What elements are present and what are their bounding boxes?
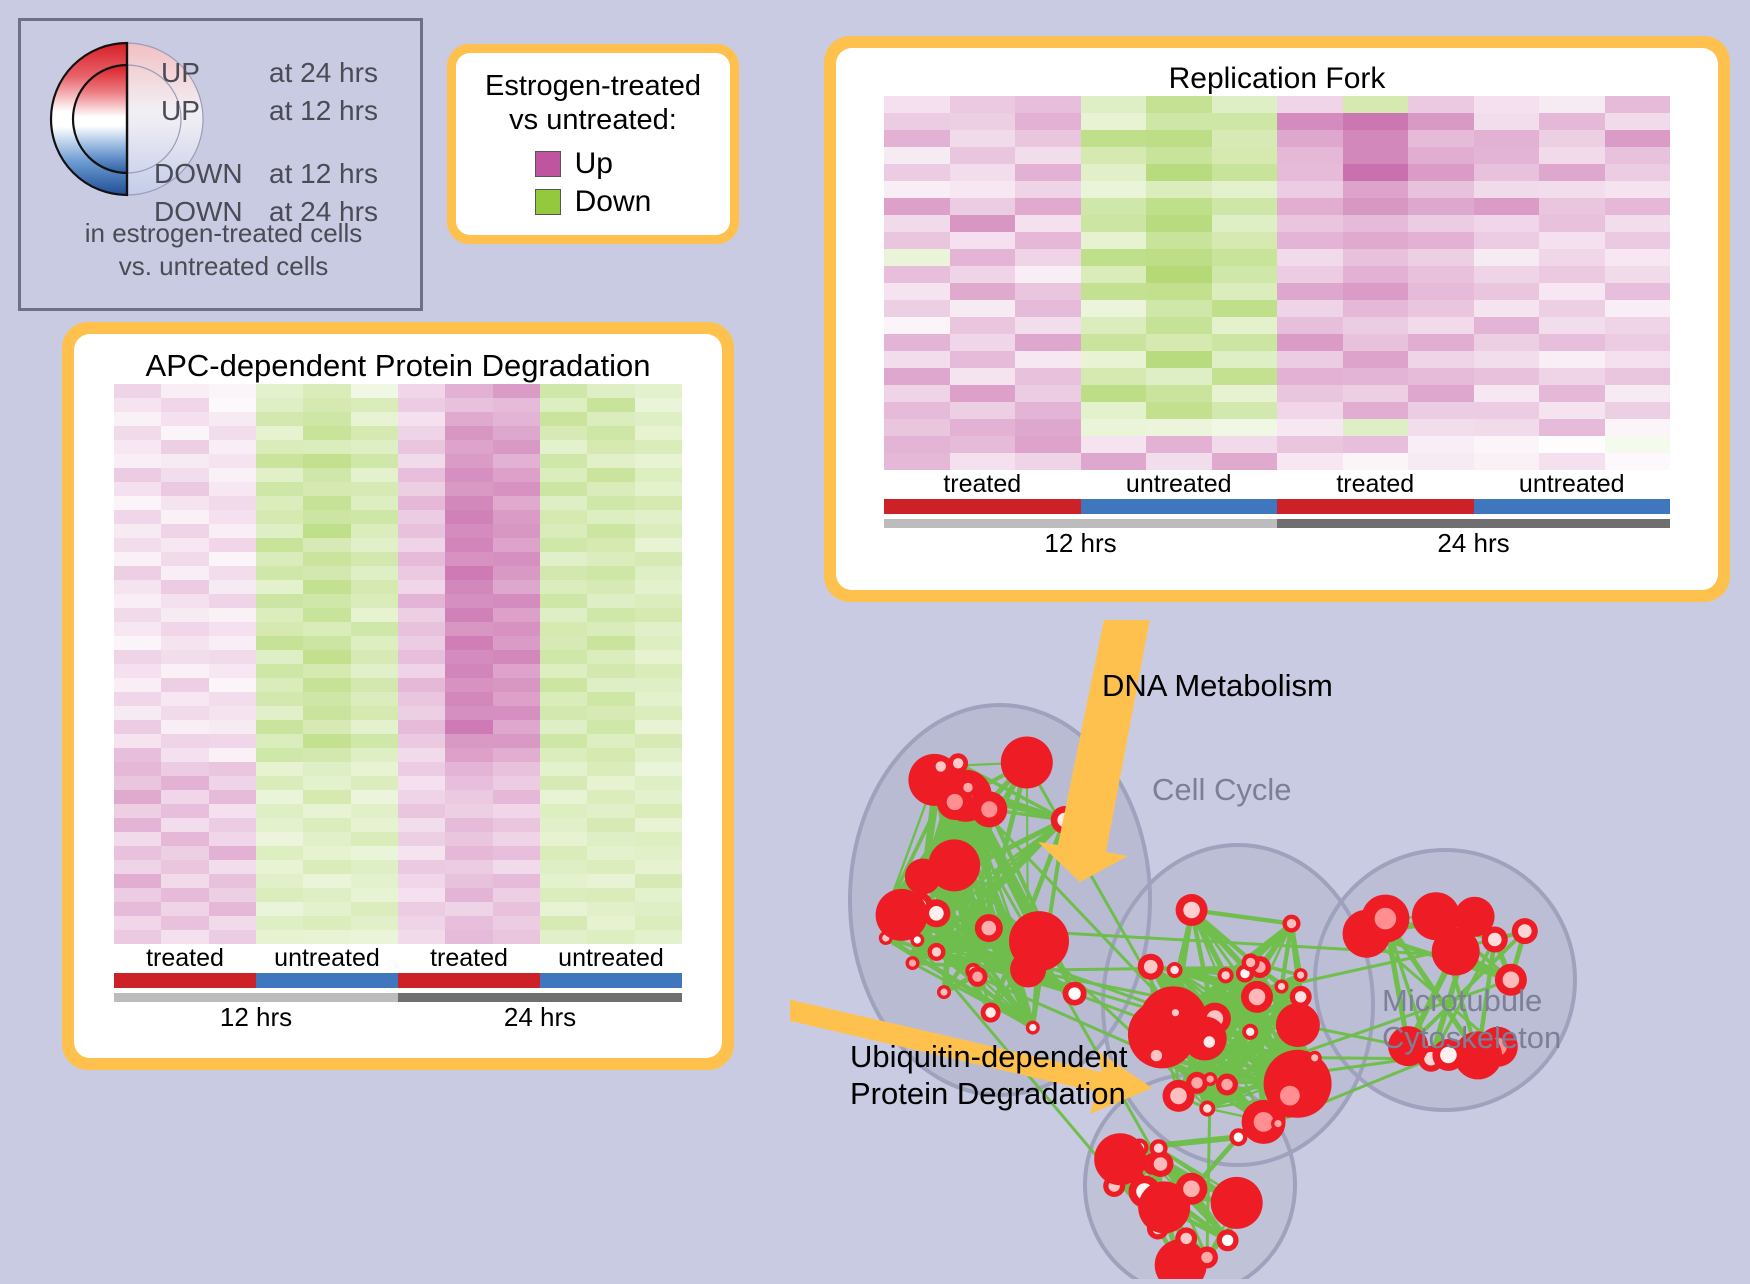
network-node[interactable] bbox=[1175, 1227, 1197, 1249]
network-node[interactable] bbox=[1211, 1177, 1263, 1229]
heatmap-cell bbox=[1146, 113, 1212, 130]
heatmap-cell bbox=[1408, 266, 1474, 283]
heatmap-cell bbox=[540, 888, 587, 902]
network-node[interactable] bbox=[1196, 1246, 1218, 1268]
network-node[interactable] bbox=[1217, 1229, 1239, 1251]
network-node[interactable] bbox=[1063, 982, 1087, 1006]
heatmap-cell bbox=[1474, 436, 1540, 453]
heatmap-cell bbox=[1539, 402, 1605, 419]
heatmap-cell bbox=[540, 692, 587, 706]
heatmap-cell bbox=[398, 454, 445, 468]
heatmap-cell bbox=[209, 384, 256, 398]
heatmap-cell bbox=[209, 888, 256, 902]
heatmap-cell bbox=[635, 706, 682, 720]
axis-group-name-0: treated bbox=[114, 944, 256, 973]
heatmap-cell bbox=[1474, 283, 1540, 300]
network-node[interactable] bbox=[1294, 968, 1308, 982]
heatmap-cell bbox=[303, 720, 350, 734]
heatmap-cell bbox=[635, 594, 682, 608]
heatmap-cell bbox=[1277, 317, 1343, 334]
heatmap-cell bbox=[1277, 249, 1343, 266]
heatmap-cell bbox=[1081, 198, 1147, 215]
network-node[interactable] bbox=[1216, 1074, 1238, 1096]
network-node[interactable] bbox=[1276, 1003, 1320, 1047]
heatmap-cell bbox=[950, 402, 1016, 419]
heatmap-cell bbox=[1408, 419, 1474, 436]
heatmap-cell bbox=[1474, 198, 1540, 215]
heatmap-cell bbox=[161, 776, 208, 790]
heatmap-cell bbox=[209, 678, 256, 692]
heatmap-cell bbox=[950, 453, 1016, 470]
axis-treatment-bar-rep bbox=[884, 499, 1670, 514]
heatmap-cell bbox=[1539, 198, 1605, 215]
axis-group-names-apc: treateduntreatedtreateduntreated bbox=[114, 944, 682, 973]
heatmap-cell bbox=[256, 734, 303, 748]
heatmap-cell bbox=[114, 664, 161, 678]
heatmap-cell bbox=[256, 650, 303, 664]
panel-title-replication-fork: Replication Fork bbox=[884, 62, 1670, 96]
heatmap-cell bbox=[587, 524, 634, 538]
heatmap-cell bbox=[256, 468, 303, 482]
heatmap-cell bbox=[540, 636, 587, 650]
heatmap-cell bbox=[1343, 334, 1409, 351]
heatmap-cell bbox=[1146, 385, 1212, 402]
network-node[interactable] bbox=[948, 753, 968, 773]
heatmap-cell bbox=[540, 678, 587, 692]
heatmap-cell bbox=[1343, 368, 1409, 385]
heatmap-cell bbox=[303, 860, 350, 874]
heatmap-cell bbox=[1539, 266, 1605, 283]
heatmap-cell bbox=[351, 384, 398, 398]
heatmap-cell bbox=[493, 664, 540, 678]
heatmap-cell bbox=[445, 790, 492, 804]
network-node[interactable] bbox=[1163, 1080, 1195, 1112]
heatmap-cell bbox=[114, 454, 161, 468]
heatmap-cell bbox=[635, 832, 682, 846]
heatmap-cell bbox=[303, 790, 350, 804]
network-node[interactable] bbox=[1009, 911, 1069, 971]
network-node[interactable] bbox=[975, 914, 1003, 942]
cluster-label-cell-cycle: Cell Cycle bbox=[1152, 772, 1292, 808]
heatmap-cell bbox=[1408, 402, 1474, 419]
heatmap-cell bbox=[209, 804, 256, 818]
heatmap-cell bbox=[351, 790, 398, 804]
network-node[interactable] bbox=[1432, 928, 1480, 976]
estrogen-legend-title-line2: vs untreated: bbox=[485, 103, 701, 137]
heatmap-cell bbox=[351, 832, 398, 846]
network-node[interactable] bbox=[1241, 981, 1273, 1013]
network-node[interactable] bbox=[981, 1003, 1001, 1023]
heatmap-cell bbox=[445, 454, 492, 468]
heatmap-cell bbox=[635, 482, 682, 496]
heatmap-cell bbox=[256, 916, 303, 930]
heatmap-cell bbox=[1539, 181, 1605, 198]
heatmap-cell bbox=[493, 454, 540, 468]
heatmap-cell bbox=[635, 440, 682, 454]
heatmap-cell bbox=[1343, 402, 1409, 419]
heatmap-cell bbox=[1146, 249, 1212, 266]
heatmap-cell bbox=[398, 846, 445, 860]
heatmap-cell bbox=[1081, 113, 1147, 130]
heatmap-cell bbox=[351, 902, 398, 916]
network-node[interactable] bbox=[1229, 1128, 1247, 1146]
heatmap-cell bbox=[884, 402, 950, 419]
heatmap-cell bbox=[1212, 130, 1278, 147]
treatment-bar-treated-2 bbox=[1277, 499, 1474, 514]
heatmap-cell bbox=[303, 468, 350, 482]
network-node[interactable] bbox=[1168, 1006, 1182, 1020]
network-node[interactable] bbox=[876, 889, 928, 941]
network-node[interactable] bbox=[1242, 1024, 1258, 1040]
network-node[interactable] bbox=[959, 779, 977, 797]
heatmap-cell bbox=[303, 888, 350, 902]
heatmap-cell bbox=[161, 412, 208, 426]
network-node[interactable] bbox=[1268, 1074, 1312, 1118]
heatmap-cell bbox=[1605, 385, 1671, 402]
panel-apc-degradation: APC-dependent Protein Degradation treate… bbox=[62, 322, 734, 1070]
heatmap-cell bbox=[540, 790, 587, 804]
heatmap-cell bbox=[1277, 215, 1343, 232]
heatmap-cell bbox=[351, 398, 398, 412]
network-node[interactable] bbox=[937, 985, 951, 999]
heatmap-cell bbox=[635, 622, 682, 636]
heatmap-cell bbox=[256, 678, 303, 692]
network-node[interactable] bbox=[1203, 1072, 1217, 1086]
heatmap-cell bbox=[950, 249, 1016, 266]
heatmap-cell bbox=[635, 398, 682, 412]
heatmap-cell bbox=[398, 608, 445, 622]
heatmap-cell bbox=[1277, 198, 1343, 215]
heatmap-cell bbox=[303, 482, 350, 496]
heatmap-cell bbox=[256, 552, 303, 566]
heatmap-cell bbox=[445, 594, 492, 608]
heatmap-cell bbox=[635, 720, 682, 734]
heatmap-cell bbox=[1212, 453, 1278, 470]
heatmap-cell bbox=[398, 566, 445, 580]
heatmap-cell bbox=[114, 580, 161, 594]
heatmap-cell bbox=[161, 538, 208, 552]
heatmap-cell bbox=[209, 580, 256, 594]
network-node[interactable] bbox=[1026, 1021, 1040, 1035]
heatmap-cell bbox=[209, 818, 256, 832]
heatmap-cell bbox=[209, 692, 256, 706]
heatmap-cell bbox=[1146, 351, 1212, 368]
treatment-bar-treated-2 bbox=[398, 973, 540, 988]
heatmap-cell bbox=[1343, 164, 1409, 181]
heatmap-cell bbox=[303, 818, 350, 832]
heatmap-cell bbox=[256, 832, 303, 846]
legend-label-down: Down bbox=[575, 185, 652, 219]
heatmap-cell bbox=[1146, 232, 1212, 249]
up-swatch-icon bbox=[535, 151, 561, 177]
heatmap-cell bbox=[1081, 300, 1147, 317]
heatmap-cell bbox=[351, 482, 398, 496]
heatmap-cell bbox=[540, 846, 587, 860]
heatmap-cell bbox=[445, 930, 492, 944]
heatmap-cell bbox=[303, 398, 350, 412]
heatmap-cell bbox=[209, 538, 256, 552]
heatmap-cell bbox=[1146, 436, 1212, 453]
heatmap-cell bbox=[445, 538, 492, 552]
heatmap-cell bbox=[1343, 113, 1409, 130]
heatmap-cell bbox=[950, 232, 1016, 249]
panel-replication-fork: Replication Fork treateduntreatedtreated… bbox=[824, 36, 1730, 602]
heatmap-cell bbox=[1474, 419, 1540, 436]
heatmap-cell bbox=[1408, 130, 1474, 147]
network-node[interactable] bbox=[1175, 1173, 1207, 1205]
key-term-down-12: DOWN bbox=[154, 158, 243, 190]
heatmap-cell bbox=[635, 888, 682, 902]
heatmap-cell bbox=[161, 818, 208, 832]
heatmap-cell bbox=[884, 419, 950, 436]
axis-treatment-bar-apc bbox=[114, 973, 682, 988]
heatmap-cell bbox=[540, 664, 587, 678]
heatmap-cell bbox=[351, 622, 398, 636]
network-node[interactable] bbox=[1138, 954, 1164, 980]
heatmap-cell bbox=[161, 902, 208, 916]
network-node[interactable] bbox=[968, 967, 988, 987]
heatmap-cell bbox=[1212, 215, 1278, 232]
heatmap-cell bbox=[209, 706, 256, 720]
heatmap-cell bbox=[114, 398, 161, 412]
heatmap-cell bbox=[398, 664, 445, 678]
heatmap-cell bbox=[587, 874, 634, 888]
heatmap-cell bbox=[587, 608, 634, 622]
heatmap-cell bbox=[493, 650, 540, 664]
heatmap-cell bbox=[950, 317, 1016, 334]
heatmap-cell bbox=[493, 692, 540, 706]
network-node[interactable] bbox=[1275, 980, 1289, 994]
heatmap-cell bbox=[587, 594, 634, 608]
network-node[interactable] bbox=[1361, 895, 1409, 943]
heatmap-cell bbox=[209, 916, 256, 930]
heatmap-cell bbox=[884, 300, 950, 317]
axis-group-name-2: treated bbox=[398, 944, 540, 973]
heatmap-cell bbox=[1212, 232, 1278, 249]
heatmap-cell bbox=[351, 804, 398, 818]
heatmap-cell bbox=[303, 734, 350, 748]
network-node[interactable] bbox=[1150, 1139, 1168, 1157]
heatmap-cell bbox=[303, 454, 350, 468]
network-node[interactable] bbox=[906, 956, 920, 970]
heatmap-cell bbox=[209, 426, 256, 440]
network-node[interactable] bbox=[1176, 894, 1208, 926]
heatmap-cell bbox=[445, 762, 492, 776]
heatmap-cell bbox=[445, 566, 492, 580]
heatmap-cell bbox=[1015, 419, 1081, 436]
network-node[interactable] bbox=[1290, 986, 1312, 1008]
heatmap-cell bbox=[1605, 181, 1671, 198]
heatmap-cell bbox=[587, 776, 634, 790]
heatmap-cell bbox=[256, 818, 303, 832]
network-node[interactable] bbox=[1271, 1117, 1285, 1131]
heatmap-cell bbox=[1277, 130, 1343, 147]
heatmap-cell bbox=[1015, 266, 1081, 283]
time-label-12hrs-apc: 12 hrs bbox=[114, 1002, 398, 1033]
heatmap-cell bbox=[161, 482, 208, 496]
heatmap-cell bbox=[351, 748, 398, 762]
heatmap-cell bbox=[587, 818, 634, 832]
heatmap-cell bbox=[493, 594, 540, 608]
heatmap-cell bbox=[493, 622, 540, 636]
axis-group-name-0: treated bbox=[884, 470, 1081, 499]
heatmap-cell bbox=[256, 496, 303, 510]
heatmap-cell bbox=[445, 902, 492, 916]
heatmap-cell bbox=[1343, 385, 1409, 402]
heatmap-cell bbox=[884, 283, 950, 300]
heatmap-cell bbox=[540, 720, 587, 734]
heatmap-cell bbox=[587, 636, 634, 650]
heatmap-cell bbox=[1605, 453, 1671, 470]
heatmap-cell bbox=[1605, 130, 1671, 147]
heatmap-cell bbox=[398, 440, 445, 454]
heatmap-cell bbox=[1277, 113, 1343, 130]
heatmap-cell bbox=[114, 426, 161, 440]
network-node[interactable] bbox=[1242, 953, 1260, 971]
heatmap-cell bbox=[1408, 96, 1474, 113]
heatmap-cell bbox=[209, 440, 256, 454]
heatmap-cell bbox=[256, 524, 303, 538]
heatmap-cell bbox=[256, 440, 303, 454]
heatmap-cell bbox=[256, 748, 303, 762]
heatmap-cell bbox=[587, 384, 634, 398]
heatmap-cell bbox=[950, 164, 1016, 181]
heatmap-cell bbox=[256, 692, 303, 706]
heatmap-cell bbox=[1474, 351, 1540, 368]
heatmap-cell bbox=[587, 412, 634, 426]
network-node[interactable] bbox=[1167, 962, 1183, 978]
heatmap-cell bbox=[540, 818, 587, 832]
heatmap-cell bbox=[351, 468, 398, 482]
heatmap-cell bbox=[493, 790, 540, 804]
network-node[interactable] bbox=[1199, 1101, 1215, 1117]
heatmap-cell bbox=[884, 147, 950, 164]
heatmap-cell bbox=[493, 566, 540, 580]
heatmap-cell bbox=[351, 776, 398, 790]
heatmap-cell bbox=[161, 860, 208, 874]
heatmap-cell bbox=[493, 636, 540, 650]
heatmap-cell bbox=[1605, 368, 1671, 385]
heatmap-cell bbox=[256, 622, 303, 636]
heatmap-cell bbox=[398, 762, 445, 776]
network-node[interactable] bbox=[1094, 1133, 1146, 1185]
heatmap-cell bbox=[398, 692, 445, 706]
key-term-up-24: UP bbox=[161, 57, 200, 89]
heatmap-cell bbox=[587, 664, 634, 678]
heatmap-cell bbox=[114, 440, 161, 454]
heatmap-cell bbox=[540, 804, 587, 818]
heatmap-cell bbox=[303, 594, 350, 608]
heatmap-cell bbox=[114, 636, 161, 650]
heatmap-cell bbox=[1015, 113, 1081, 130]
heatmap-cell bbox=[398, 902, 445, 916]
heatmap-cell bbox=[114, 804, 161, 818]
network-node[interactable] bbox=[1218, 967, 1234, 983]
heatmap-cell bbox=[635, 874, 682, 888]
key-term-up-12: UP bbox=[161, 95, 200, 127]
network-node[interactable] bbox=[928, 839, 980, 891]
heatmap-cell bbox=[303, 440, 350, 454]
network-node[interactable] bbox=[1001, 737, 1053, 789]
network-node[interactable] bbox=[1139, 986, 1207, 1054]
heatmap-cell bbox=[1408, 164, 1474, 181]
heatmap-cell bbox=[1474, 453, 1540, 470]
network-node[interactable] bbox=[1482, 927, 1508, 953]
heatmap-cell bbox=[587, 510, 634, 524]
legend-item-up: Up bbox=[535, 147, 652, 181]
heatmap-cell bbox=[587, 790, 634, 804]
heatmap-cell bbox=[1343, 249, 1409, 266]
heatmap-cell bbox=[635, 762, 682, 776]
heatmap-cell bbox=[1146, 402, 1212, 419]
time-bar-24hrs bbox=[1277, 519, 1670, 528]
heatmap-cell bbox=[209, 510, 256, 524]
heatmap-cell bbox=[398, 496, 445, 510]
heatmap-cell bbox=[1081, 249, 1147, 266]
heatmap-cell bbox=[493, 398, 540, 412]
network-node[interactable] bbox=[1308, 1051, 1322, 1065]
heatmap-cell bbox=[351, 846, 398, 860]
heatmap-cell bbox=[398, 636, 445, 650]
axis-replication-fork: treateduntreatedtreateduntreated 12 hrs … bbox=[884, 470, 1670, 559]
heatmap-cell bbox=[1605, 419, 1671, 436]
heatmap-cell bbox=[351, 650, 398, 664]
heatmap-cell bbox=[209, 552, 256, 566]
heatmap-cell bbox=[540, 538, 587, 552]
heatmap-cell bbox=[303, 580, 350, 594]
heatmap-cell bbox=[209, 846, 256, 860]
heatmap-cell bbox=[1081, 385, 1147, 402]
heatmap-cell bbox=[161, 650, 208, 664]
network-svg bbox=[790, 620, 1750, 1279]
heatmap-cell bbox=[209, 524, 256, 538]
heatmap-cell bbox=[209, 664, 256, 678]
heatmap-cell bbox=[303, 874, 350, 888]
heatmap-cell bbox=[1605, 436, 1671, 453]
heatmap-cell bbox=[114, 860, 161, 874]
network-node[interactable] bbox=[1283, 915, 1301, 933]
heatmap-cell bbox=[1146, 198, 1212, 215]
axis-apc: treateduntreatedtreateduntreated 12 hrs … bbox=[114, 944, 682, 1033]
heatmap-cell bbox=[445, 412, 492, 426]
heatmap-cell bbox=[256, 454, 303, 468]
heatmap-cell bbox=[398, 790, 445, 804]
heatmap-cell bbox=[493, 832, 540, 846]
heatmap-cell bbox=[587, 440, 634, 454]
heatmap-cell bbox=[1408, 351, 1474, 368]
heatmap-cell bbox=[398, 804, 445, 818]
network-node[interactable] bbox=[928, 943, 946, 961]
network-node[interactable] bbox=[1512, 918, 1538, 944]
heatmap-cell bbox=[256, 594, 303, 608]
cluster-label-ubiquitin-line2: Protein Degradation bbox=[850, 1075, 1128, 1112]
heatmap-cell bbox=[1081, 215, 1147, 232]
heatmap-cell bbox=[1474, 215, 1540, 232]
heatmap-cell bbox=[351, 734, 398, 748]
network-node[interactable] bbox=[1145, 1045, 1167, 1067]
heatmap-cell bbox=[114, 930, 161, 944]
heatmap-cell bbox=[540, 594, 587, 608]
heatmap-cell bbox=[884, 317, 950, 334]
heatmap-cell bbox=[1015, 147, 1081, 164]
heatmap-cell bbox=[493, 874, 540, 888]
network-node[interactable] bbox=[931, 756, 951, 776]
heatmap-cell bbox=[587, 916, 634, 930]
heatmap-cell bbox=[635, 664, 682, 678]
network-node[interactable] bbox=[971, 791, 1007, 827]
heatmap-cell bbox=[1539, 334, 1605, 351]
heatmap-cell bbox=[1212, 317, 1278, 334]
